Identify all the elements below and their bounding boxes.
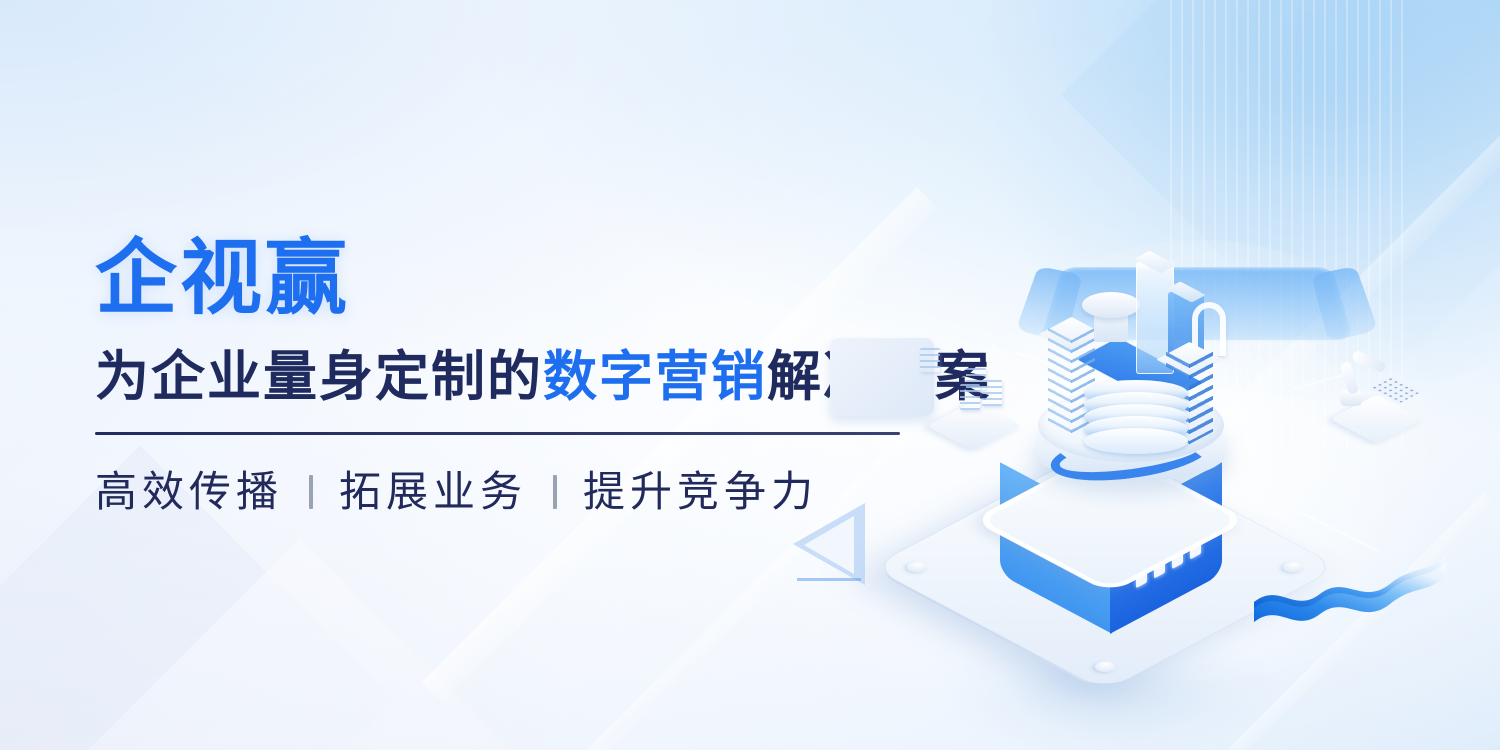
tagline-separator-2 — [553, 475, 557, 509]
satellite-city-block-3 — [982, 380, 1002, 406]
divider-line — [95, 432, 900, 435]
tower-right-face-right — [1189, 352, 1213, 445]
glass-triangle-prism — [788, 508, 870, 584]
tagline-item-3: 提升竞争力 — [583, 469, 818, 515]
brand-title: 企视赢 — [95, 238, 925, 320]
bg-diamond-bottom-left-b — [88, 538, 512, 750]
headline-prefix: 为企业量身定制的 — [95, 347, 543, 407]
tagline-item-1: 高效传播 — [95, 469, 283, 515]
hero-banner: 企视赢 为企业量身定制的数字营销解决方案 高效传播 拓展业务 提升竞争力 — [0, 0, 1500, 750]
tray-peg-bottom-right — [1091, 659, 1119, 674]
headline-highlight: 数字营销 — [543, 347, 767, 407]
satellite-robot-arm — [1318, 338, 1438, 430]
satellite-city-block-4 — [920, 348, 940, 372]
disc-cap-top — [1082, 292, 1140, 318]
disc-layer-5 — [1084, 428, 1188, 454]
prism-edge-highlight — [797, 511, 861, 581]
tagline-item-2: 拓展业务 — [339, 469, 527, 515]
wave-ribbon — [1250, 530, 1450, 640]
satellite-city-block-2 — [960, 384, 980, 410]
headline: 为企业量身定制的数字营销解决方案 — [95, 348, 925, 406]
tray-side-tab — [830, 338, 934, 416]
tower-left-face-left — [1048, 328, 1072, 435]
satellite-city-plate — [920, 348, 1032, 426]
hero-copy: 企视赢 为企业量身定制的数字营销解决方案 高效传播 拓展业务 提升竞争力 — [95, 238, 925, 516]
disc-stack-tower — [1084, 380, 1188, 450]
disc-cap-tower — [1082, 292, 1140, 344]
robot-arm-upper — [1351, 350, 1387, 374]
hero-illustration — [900, 230, 1460, 660]
tagline-separator-1 — [309, 475, 313, 509]
city-cluster — [1040, 268, 1230, 448]
